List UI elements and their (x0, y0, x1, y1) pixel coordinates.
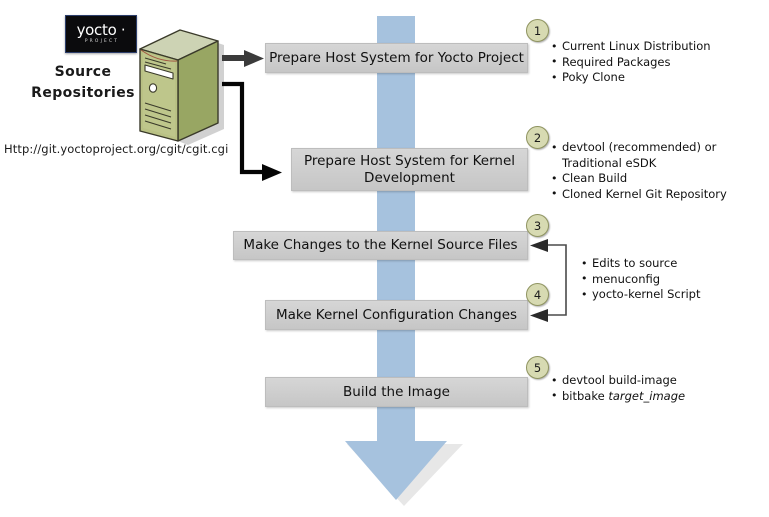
source-repositories-label: Source Repositories (22, 62, 144, 104)
connector-server-to-step1 (222, 50, 264, 67)
bullet-item: menuconfig (581, 272, 761, 288)
step-box-4[interactable]: Make Kernel Configuration Changes (265, 300, 528, 330)
step-2-bullet-list: devtool (recommended) or Traditional eSD… (551, 140, 763, 202)
source-repositories-label-line2: Repositories (22, 83, 144, 104)
bullet-item: Current Linux Distribution (551, 39, 763, 55)
step-number-2: 2 (526, 126, 549, 149)
step-box-3[interactable]: Make Changes to the Kernel Source Files (233, 231, 528, 260)
step-number-5: 5 (526, 356, 549, 379)
bullet-item: devtool (recommended) or Traditional eSD… (551, 140, 763, 171)
steps-3-4-bullet-list: Edits to sourcemenuconfigyocto-kernel Sc… (581, 256, 761, 303)
bullet-item: Clean Build (551, 171, 763, 187)
bullet-item: Cloned Kernel Git Repository (551, 187, 763, 203)
bullet-item: Edits to source (581, 256, 761, 272)
step-number-3: 3 (526, 214, 549, 237)
bullet-item: Poky Clone (551, 70, 763, 86)
server-icon (130, 27, 226, 145)
bullet-item: devtool build-image (551, 373, 763, 389)
yocto-project-logo: yocto · PROJECT (65, 15, 137, 53)
bullet-item: yocto-kernel Script (581, 287, 761, 303)
yocto-logo-subtext: PROJECT (83, 39, 119, 45)
step-box-1[interactable]: Prepare Host System for Yocto Project (265, 43, 528, 73)
step-box-5[interactable]: Build the Image (265, 377, 528, 407)
step-1-bullet-list: Current Linux DistributionRequired Packa… (551, 39, 763, 86)
yocto-logo-wordmark: yocto · (77, 23, 126, 38)
step-number-1: 1 (526, 19, 549, 42)
bullet-italic-token: target_image (608, 389, 685, 403)
diagram-canvas: yocto · PROJECT Source Repositories Http… (0, 0, 769, 517)
connector-server-to-step2 (222, 84, 282, 181)
bullet-item: Required Packages (551, 55, 763, 71)
bullet-item: bitbake target_image (551, 389, 763, 405)
source-repositories-label-line1: Source (22, 62, 144, 83)
step-number-4: 4 (526, 283, 549, 306)
step-5-bullet-list: devtool build-imagebitbake target_image (551, 373, 763, 404)
step-box-2[interactable]: Prepare Host System for Kernel Developme… (291, 148, 528, 191)
connector-bracket-steps-3-4 (530, 239, 566, 322)
